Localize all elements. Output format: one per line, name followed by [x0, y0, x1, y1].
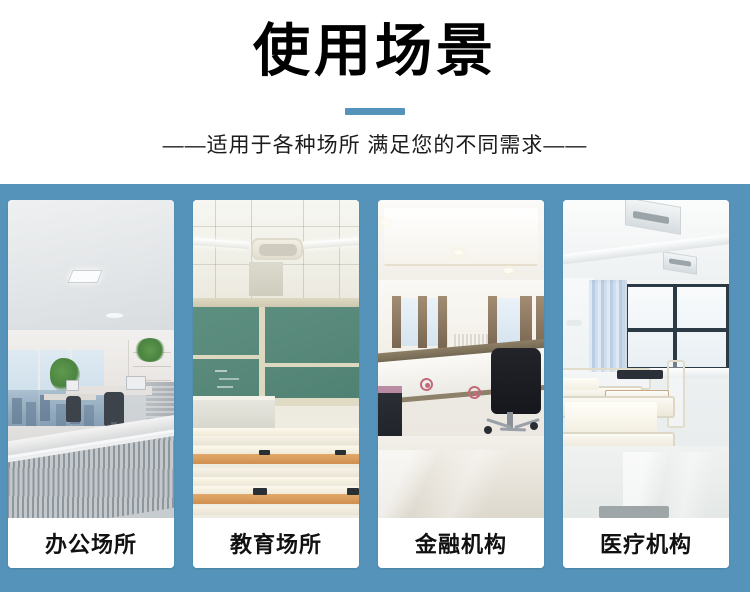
office-photo [8, 200, 174, 518]
window [625, 284, 729, 370]
header-section: 使用场景 ——适用于各种场所 满足您的不同需求—— [0, 0, 750, 184]
bank-photo [378, 200, 544, 518]
ceiling-ac-unit-icon [251, 238, 303, 260]
scenario-card-office[interactable]: 办公场所 [8, 200, 174, 568]
scenario-card-list: 办公场所 [8, 200, 742, 568]
ceiling-light-icon [67, 270, 102, 283]
hospital-photo [563, 200, 729, 518]
scenario-card-finance[interactable]: 金融机构 [378, 200, 544, 568]
scenario-card-label: 医疗机构 [563, 518, 729, 568]
scenario-card-education[interactable]: 教育场所 [193, 200, 359, 568]
scenarios-panel: 办公场所 [0, 184, 750, 592]
scenario-card-label: 金融机构 [378, 518, 544, 568]
scenario-card-medical[interactable]: 医疗机构 [563, 200, 729, 568]
privacy-curtain [589, 280, 627, 372]
office-chair [491, 348, 541, 414]
usage-scenarios-page: 使用场景 ——适用于各种场所 满足您的不同需求—— [0, 0, 750, 592]
page-subtitle: ——适用于各种场所 满足您的不同需求—— [0, 131, 750, 161]
scenario-card-label: 办公场所 [8, 518, 174, 568]
classroom-photo [193, 200, 359, 518]
title-divider [345, 108, 405, 115]
page-title: 使用场景 [0, 18, 750, 84]
scenario-card-label: 教育场所 [193, 518, 359, 568]
chalkboard [193, 307, 359, 405]
